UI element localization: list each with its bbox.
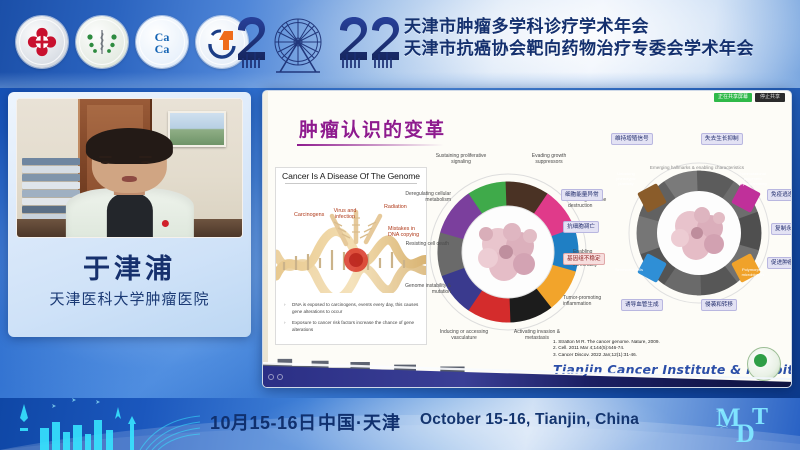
hallmark-cn-label: 诱导血管生成 [621,299,663,311]
event-date-cn: 10月15-16日 [210,409,317,435]
event-date-en: October 15-16, Tianjin, China [420,411,639,429]
speaker-video[interactable] [16,98,243,238]
hallmark-extra-label: Nonmutational epigenetic reprogramming [733,171,773,186]
svg-text:D: D [736,419,755,446]
tianjin-skyline-decoration [0,398,200,450]
conference-header-banner: Ca Ca [0,0,800,88]
slide-footer-decoration [263,355,791,387]
genome-bullets: DNA is exposed to carcinogens, events ev… [284,302,422,338]
reference-item: 2. Cell. 2011 Mar 4;144(5):646-74. [553,345,763,352]
webcast-stage: Ca Ca [0,0,800,450]
speaker-panel[interactable]: 于津浦 天津医科大学肿瘤医院 [8,92,251,337]
caca-logo: Ca Ca [136,16,188,68]
genome-label-carcinogens: Carcinogens [294,212,324,218]
hallmark-cn-label: 基因组不稳定 [563,253,605,265]
hallmark-label: Evading growth suppressors [521,153,577,166]
genome-label-virus: Virus and infection [332,208,358,220]
mdt-logo: M T D [714,402,786,446]
reference-item: 1. Stratton M R. The cancer genome. Natu… [553,339,763,346]
hallmark-cn-label: 复制永生化 [771,223,792,235]
hallmark-label: Deregulating cellular metabolism [401,191,451,204]
hallmarks-wheel-2022: Emerging hallmarks & enabling characteri… [615,149,783,317]
genome-bullet: DNA is exposed to carcinogens, events ev… [284,302,422,316]
hallmark-cn-label: 维持增殖信号 [611,133,653,145]
conference-footer-banner: 10月15-16日 中国·天津 October 15-16, Tianjin, … [0,398,800,450]
year-2022-graphic [236,14,402,76]
hallmarks-wheel-2011: Sustaining proliferative signaling Evadi… [413,157,603,347]
hallmarks-emerging-caption: Emerging hallmarks & enabling characteri… [645,165,749,171]
hallmark-extra-label: Polymorphic microbiomes [735,267,771,277]
hallmark-extra-label: Senescent cells [613,267,645,272]
hallmark-cn-label: 细胞能量异常 [561,189,603,201]
slide-footer-dots [268,374,283,380]
shared-slide[interactable]: 正在共享屏幕 停止共享 肿瘤认识的变革 Cancer Is A Disease … [262,90,792,388]
genome-bullet: Exposure to cancer risk factors increase… [284,320,422,334]
chinese-medical-association-logo [16,16,68,68]
genome-figure-heading: Cancer Is A Disease Of The Genome [276,171,426,181]
speaker-organization: 天津医科大学肿瘤医院 [8,288,251,309]
slide-left-trim [263,91,268,387]
hallmark-cn-label: 侵袭和转移 [701,299,737,311]
slide-title: 肿瘤认识的变革 [299,115,446,142]
hallmark-label: Genome instability & mutation [405,283,451,296]
conference-title-line1: 天津市肿瘤多学科诊疗学术年会 [404,16,754,38]
organizer-logos: Ca Ca [16,16,248,68]
sharing-status-badge: 正在共享屏幕 [714,93,752,102]
screen-share-toolbar[interactable]: 正在共享屏幕 停止共享 [714,93,785,102]
speaker-name: 于津浦 [8,247,251,286]
hallmark-label: Inducing or accessing vasculature [433,329,495,342]
event-city-cn: 中国·天津 [318,409,401,435]
conference-title-line2: 天津市抗癌协会靶向药物治疗专委会学术年会 [404,38,754,60]
svg-text:Ca: Ca [155,42,170,56]
hallmark-label: Sustaining proliferative signaling [429,153,493,166]
medical-society-caduceus-logo [76,16,128,68]
hallmark-cn-label: 免疫逃逸 [767,189,792,201]
hallmark-cn-label: 失去生长抑制 [701,133,743,145]
hallmark-cn-label: 抗细胞凋亡 [563,221,599,233]
hallmark-label: Resisting cell death [403,241,449,247]
speaker-figure [65,127,193,237]
conference-title: 天津市肿瘤多学科诊疗学术年会 天津市抗癌协会靶向药物治疗专委会学术年会 [404,16,754,60]
genome-label-radiation: Radiation [384,204,407,210]
hallmark-extra-label: Unlocking phenotypic plasticity [609,171,643,186]
stop-sharing-button[interactable]: 停止共享 [755,93,785,102]
hallmark-label: Tumor-promoting inflammation [563,295,609,308]
